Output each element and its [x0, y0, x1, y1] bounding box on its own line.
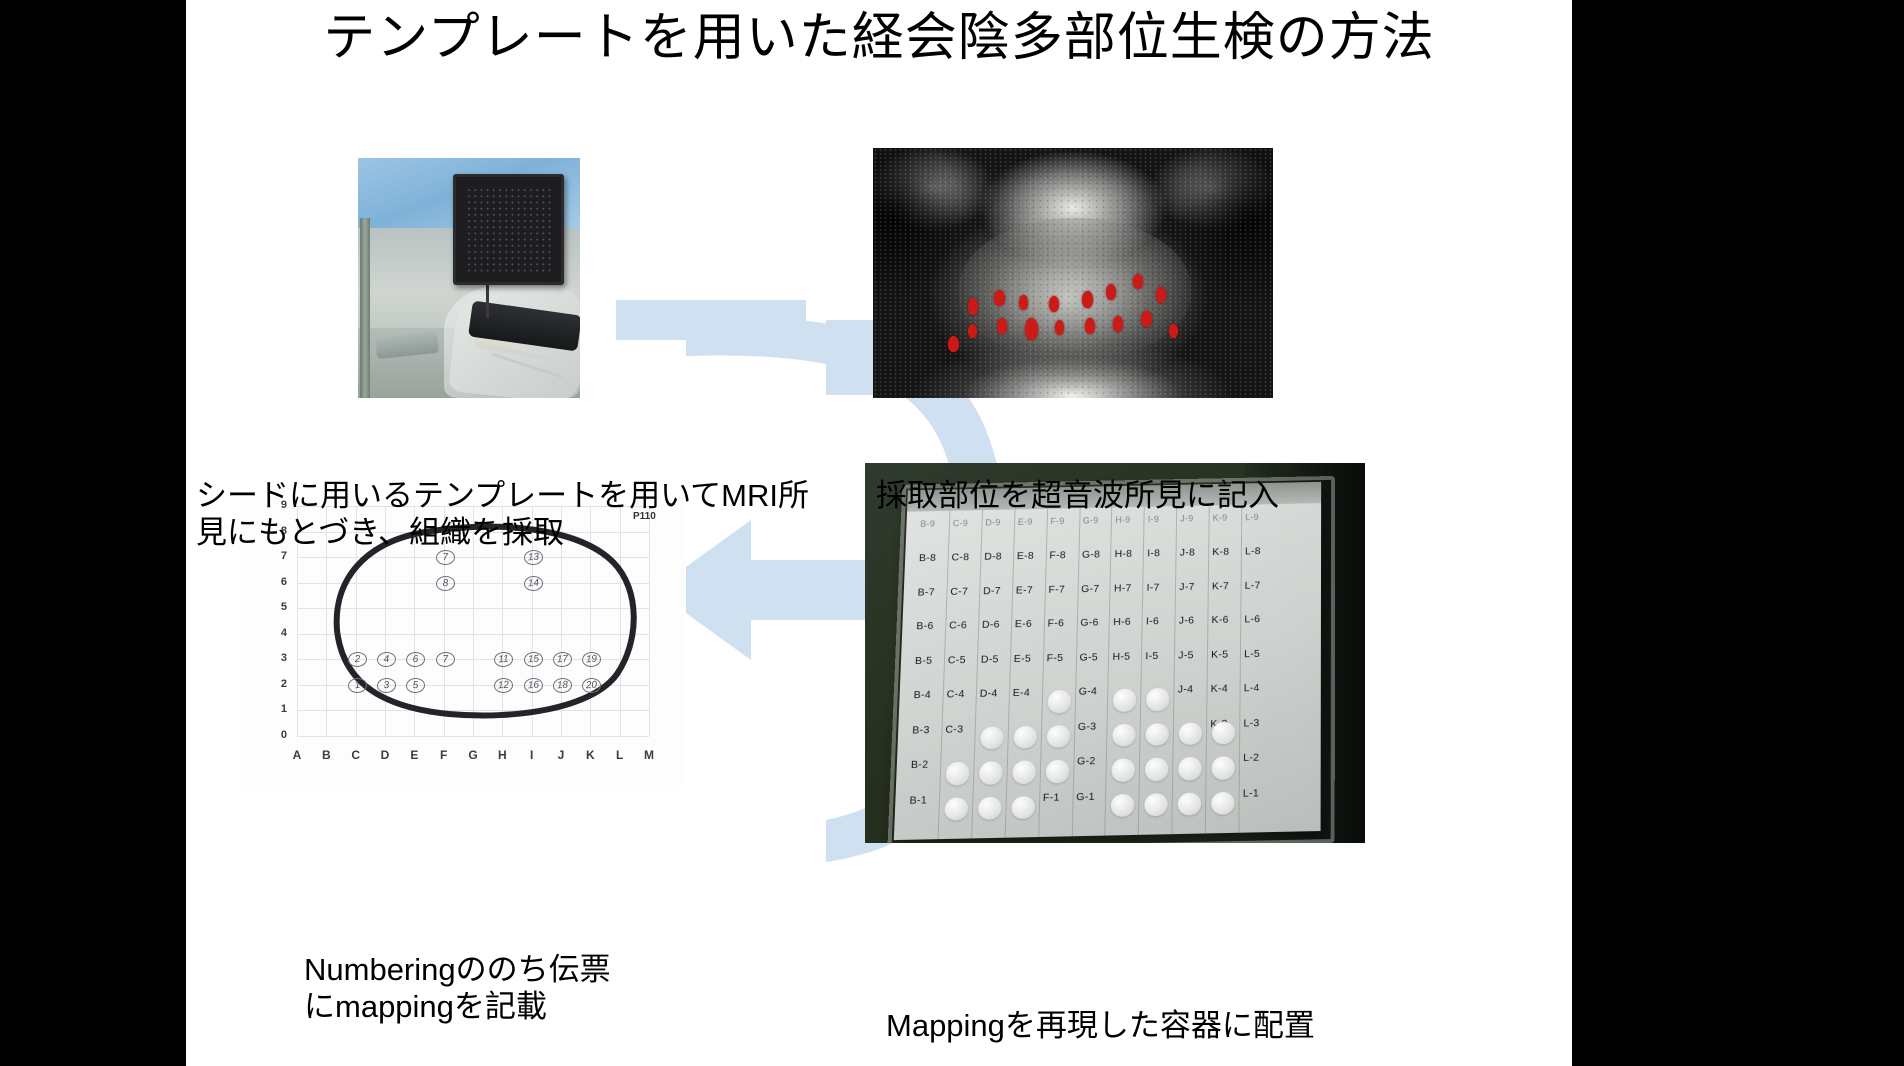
specimen-container-photo: B-9C-9D-9E-9F-9G-9H-9I-9J-9K-9L-9B-8C-8D… — [865, 463, 1365, 843]
biopsy-marker-dot — [1133, 274, 1143, 289]
biopsy-marker-dot — [1055, 320, 1064, 335]
biopsy-marker-dot — [997, 318, 1007, 334]
caption-template-photo: シードに用いるテンプレートを用いてMRI所 見にもとづき、組織を採取 — [196, 478, 836, 551]
x-axis-tick-label: H — [495, 748, 509, 762]
ultrasound-image — [873, 148, 1273, 398]
biopsy-marker-dot — [1025, 318, 1038, 340]
x-axis-tick-label: G — [466, 748, 480, 762]
y-axis-tick-label: 7 — [271, 550, 287, 562]
biopsy-marker-dot — [1082, 291, 1093, 308]
x-axis-tick-label: M — [642, 748, 656, 762]
y-axis-tick-label: 4 — [271, 627, 287, 639]
tray-rim — [887, 476, 1335, 843]
biopsy-marker-dot — [968, 324, 977, 338]
biopsy-marker-dot — [1156, 287, 1166, 303]
y-axis-tick-label: 0 — [271, 729, 287, 741]
biopsy-marker-dot — [1113, 316, 1123, 332]
caption-container: Mappingを再現した容器に配置 — [886, 1008, 1546, 1045]
template-procedure-photo — [358, 158, 580, 398]
y-axis-tick-label: 5 — [271, 601, 287, 613]
biopsy-marker-dot — [994, 290, 1005, 306]
biopsy-marker-dot — [1106, 284, 1116, 300]
page-title: テンプレートを用いた経会陰多部位生検の方法 — [186, 10, 1572, 67]
y-axis-tick-label: 2 — [271, 678, 287, 690]
slide-frame: テンプレートを用いた経会陰多部位生検の方法 — [0, 0, 1904, 1066]
x-axis-tick-label: F — [437, 748, 451, 762]
biopsy-marker-dot — [1141, 311, 1152, 327]
template-holes — [466, 187, 552, 273]
ultrasound-speckle — [873, 148, 1273, 398]
biopsy-marker-dot — [1049, 296, 1059, 312]
brachytherapy-template-grid — [453, 174, 564, 285]
slide-canvas: テンプレートを用いた経会陰多部位生検の方法 — [186, 0, 1572, 1066]
x-axis-tick-label: A — [290, 748, 304, 762]
x-axis-tick-label: B — [319, 748, 333, 762]
caption-mapping-sheet: Numberingののち伝票 にmappingを記載 — [304, 952, 724, 1025]
biopsy-marker-dot — [1085, 318, 1095, 334]
biopsy-marker-dot — [1169, 324, 1178, 338]
caption-ultrasound: 採取部位を超音波所見に記入 — [876, 478, 1436, 515]
x-axis-tick-label: E — [407, 748, 421, 762]
y-axis-tick-label: 6 — [271, 576, 287, 588]
grid-line-horizontal — [297, 736, 649, 737]
x-axis-tick-label: C — [349, 748, 363, 762]
x-axis-tick-label: I — [525, 748, 539, 762]
equipment-post-left — [360, 218, 370, 398]
x-axis-tick-label: K — [583, 748, 597, 762]
y-axis-tick-label: 1 — [271, 703, 287, 715]
biopsy-marker-dot — [1019, 295, 1028, 310]
x-axis-tick-label: L — [613, 748, 627, 762]
x-axis-tick-label: J — [554, 748, 568, 762]
biopsy-marker-dot — [948, 336, 959, 352]
x-axis-tick-label: D — [378, 748, 392, 762]
biopsy-marker-dot — [968, 298, 978, 315]
y-axis-tick-label: 3 — [271, 652, 287, 664]
